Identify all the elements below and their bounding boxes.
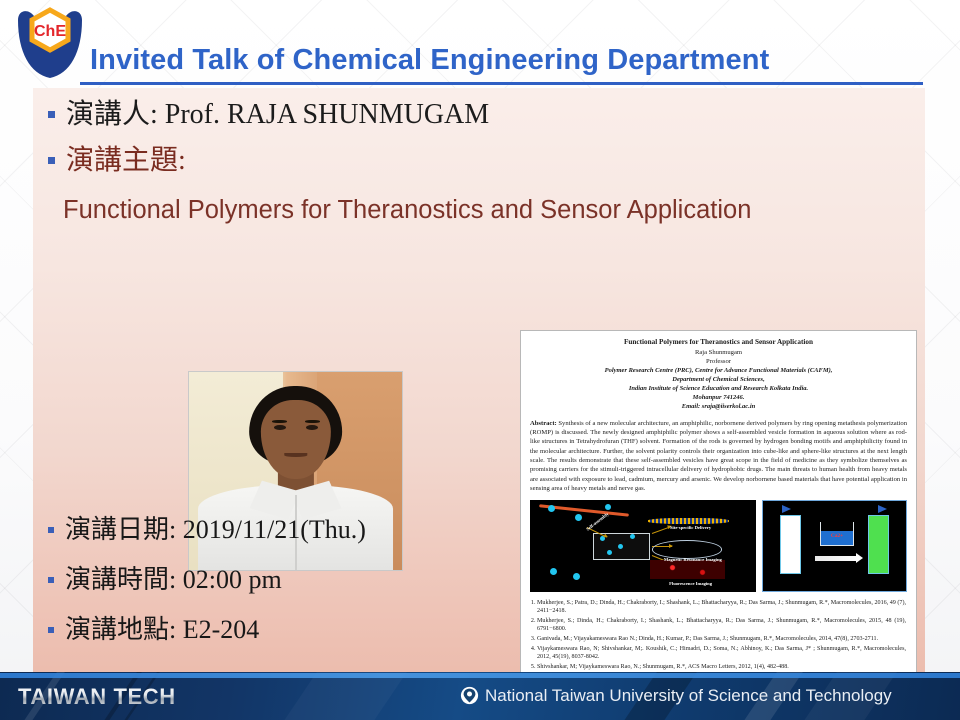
abstract-document: Functional Polymers for Theranostics and… [520, 330, 917, 720]
doc-email: Email: sraja@iiserkol.ac.in [535, 403, 902, 412]
doc-figures: Self-assembly Site-specific Delivery Mag… [530, 500, 907, 592]
doc-abstract-body: Synthesis of a new molecular architectur… [530, 420, 907, 493]
doc-abstract-label: Abstract: [530, 420, 557, 427]
figure-transition-arrow [815, 556, 858, 561]
doc-affiliation-2: Department of Chemical Sciences, [535, 376, 902, 385]
bullet-square-icon [48, 577, 54, 583]
slide-header: ChE Invited Talk of Chemical Engineering… [0, 0, 960, 88]
time-label: 演講時間: 02:00 pm [65, 566, 282, 595]
uv-lamp-left-icon [782, 505, 791, 513]
bullet-square-icon [48, 157, 55, 164]
date-row: 演講日期: 2019/11/21(Thu.) [48, 516, 366, 545]
doc-title: Functional Polymers for Theranostics and… [531, 338, 906, 346]
uv-lamp-right-icon [878, 505, 887, 513]
reference-item: Mukherjee, S.; Dinda, H.; Chakraborty, I… [537, 617, 906, 634]
place-row: 演講地點: E2-204 [48, 616, 259, 645]
date-label: 演講日期: 2019/11/21(Thu.) [65, 516, 366, 545]
doc-affiliation-3: Indian Institute of Science Education an… [535, 385, 902, 394]
doc-role: Professor [531, 358, 906, 367]
doc-affiliation-1: Polymer Research Centre (PRC), Centre fo… [535, 367, 902, 376]
title-underline [80, 82, 923, 85]
photo-mouth [284, 453, 307, 457]
figure-label-mri: Magnetic Resonance Imaging [639, 557, 748, 562]
taiwan-tech-logo: TAIWAN TECH [18, 684, 176, 710]
figure-mri-object [652, 540, 722, 559]
time-row: 演講時間: 02:00 pm [48, 566, 282, 595]
figure-fluorescence-panel [650, 560, 725, 578]
bullet-square-icon [48, 627, 54, 633]
figure-bilayer [648, 518, 729, 524]
doc-affiliation-4: Mohanpur 741246. [535, 394, 902, 403]
doc-abstract: Abstract: Synthesis of a new molecular a… [530, 419, 907, 494]
university-name: National Taiwan University of Science an… [485, 686, 892, 706]
reference-item: Mukherjee, S.; Patra, D.; Dinda, H.; Cha… [537, 599, 906, 616]
photo-brow-right [305, 420, 320, 423]
content-panel: 演講人: Prof. RAJA SHUNMUGAM 演講主題: Function… [33, 88, 925, 678]
figure-label-self-assembly: Self-assembly [586, 511, 610, 531]
speaker-label: 演講人: Prof. RAJA SHUNMUGAM [66, 100, 489, 131]
beaker: Ca2+ [820, 522, 853, 546]
doc-author: Raja Shunmugam [531, 349, 906, 358]
topic-row: 演講主題: [48, 146, 186, 177]
topic-title: Functional Polymers for Theranostics and… [63, 196, 960, 225]
reference-item: Shivshankar, M; Vijaykameswara Rao, N.; … [537, 663, 906, 671]
logo-text: ChE [34, 23, 66, 40]
test-tube-after [868, 515, 889, 575]
figure-label-site-specific-delivery: Site-specific Delivery [643, 525, 738, 530]
speaker-row: 演講人: Prof. RAJA SHUNMUGAM [48, 100, 489, 131]
reference-item: Vijaykameswara Rao, N; Shivshankar, M;. … [537, 645, 906, 662]
ntust-emblem-icon [460, 686, 479, 705]
figure-label-fluorescence-imaging: Fluorescence Imaging [643, 581, 738, 586]
place-label: 演講地點: E2-204 [65, 616, 259, 645]
test-tube-before [780, 515, 801, 575]
slide-footer: TAIWAN TECH National Taiwan University o… [0, 672, 960, 720]
footer-accent-strip [0, 673, 960, 678]
slide-canvas: ChE Invited Talk of Chemical Engineering… [0, 0, 960, 720]
photo-brow-left [272, 420, 287, 423]
che-department-logo: ChE [8, 4, 92, 88]
bullet-square-icon [48, 527, 54, 533]
reference-item: Ganivada, M.; Vijayakameswara Rao N.; Di… [537, 635, 906, 643]
page-title: Invited Talk of Chemical Engineering Dep… [90, 44, 920, 77]
bullet-square-icon [48, 111, 55, 118]
figure-self-assembly: Self-assembly Site-specific Delivery Mag… [530, 500, 756, 592]
topic-label: 演講主題: [66, 146, 186, 177]
figure-ion-label: Ca2+ [821, 533, 852, 539]
figure-sensing: Ca2+ [762, 500, 907, 592]
